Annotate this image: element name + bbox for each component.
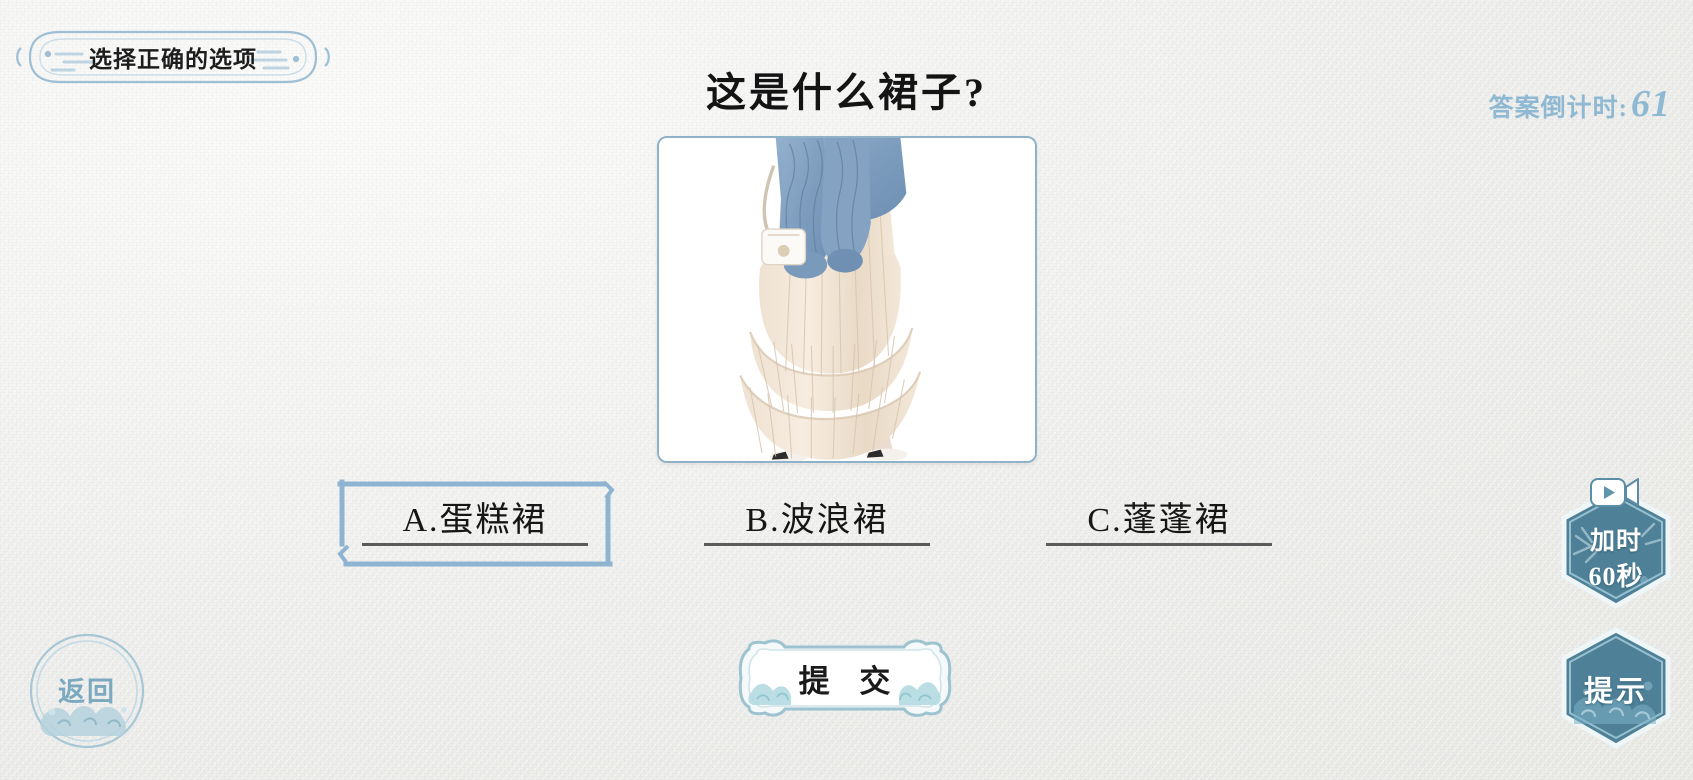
option-b-label: B.波浪裙 [745,492,888,547]
hint-button-label: 提示 [1584,668,1648,710]
submit-button[interactable]: 提 交 [727,639,962,717]
option-c[interactable]: C.蓬蓬裙 [1034,478,1284,560]
add-time-line2: 60秒 [1588,556,1643,593]
page-title: 这是什么裙子? [0,60,1693,118]
game-screen: 选择正确的选项 这是什么裙子? 答案倒计时: 61 [0,0,1693,780]
add-time-button[interactable]: 加时 60秒 [1552,484,1680,614]
countdown-value: 61 [1631,82,1671,126]
video-camera-icon [1588,473,1642,511]
add-time-line1: 加时 [1590,521,1642,557]
hint-label-group: 提示 [1552,624,1680,754]
question-image-card [657,136,1037,463]
question-image [659,138,1035,462]
back-button-label: 返回 [28,632,146,750]
option-b[interactable]: B.波浪裙 [692,478,942,560]
countdown-timer: 答案倒计时: 61 [1489,82,1671,126]
submit-button-label: 提 交 [727,639,962,717]
option-c-label: C.蓬蓬裙 [1087,492,1230,547]
option-a-label: A.蛋糕裙 [402,492,547,547]
countdown-label: 答案倒计时: [1489,88,1628,124]
hint-button[interactable]: 提示 [1552,624,1680,754]
back-button[interactable]: 返回 [28,632,146,750]
option-a[interactable]: A.蛋糕裙 [350,478,600,560]
